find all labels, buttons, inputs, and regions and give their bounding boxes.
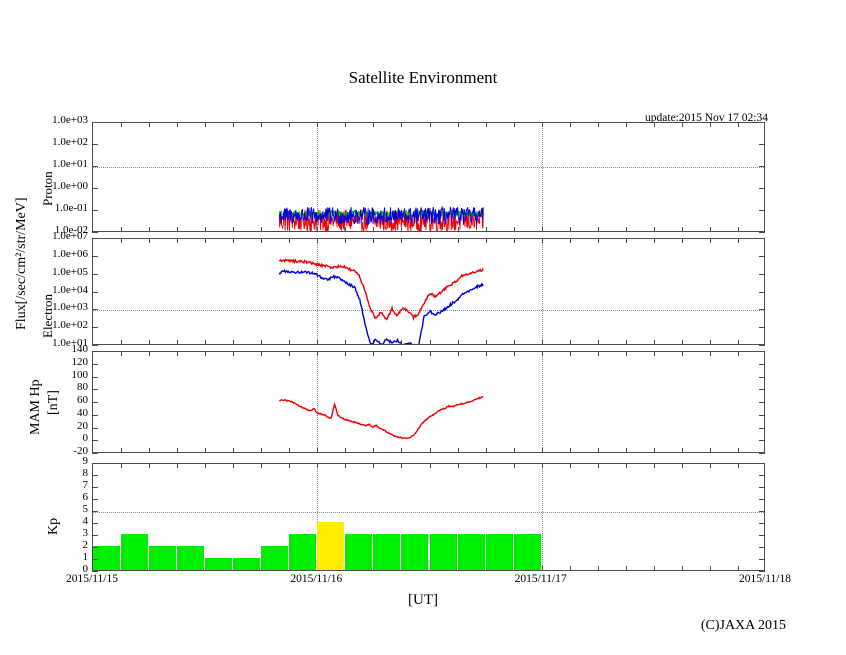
y-tick-mark-right (759, 122, 765, 123)
y-tick-mark (92, 210, 98, 211)
electron-flux-panel (92, 238, 765, 345)
x-minor-tick (598, 464, 599, 468)
y-tick-mark-right (759, 463, 765, 464)
y-tick-mark (92, 351, 98, 352)
x-axis-tick-labels: 2015/11/152015/11/162015/11/172015/11/18 (0, 573, 846, 591)
y-tick-mark (92, 274, 98, 275)
proton-flux-panel (92, 122, 765, 232)
y-tick-mark-right (759, 453, 765, 454)
y-tick-label: 1.0e+07 (0, 230, 88, 242)
mam-series-hp (279, 397, 483, 439)
x-minor-tick (233, 464, 234, 468)
y-tick-mark-right (759, 487, 765, 488)
x-minor-tick (149, 464, 150, 468)
y-tick-mark (92, 232, 98, 233)
electron-series-E-low (279, 270, 483, 345)
y-tick-mark-right (759, 440, 765, 441)
y-tick-mark-right (759, 499, 765, 500)
y-tick-mark (92, 188, 98, 189)
y-tick-mark-right (759, 571, 765, 572)
y-tick-mark-right (759, 389, 765, 390)
x-minor-tick (570, 464, 571, 468)
kp-bar (486, 534, 513, 570)
y-tick-mark (92, 547, 98, 548)
y-tick-mark-right (759, 547, 765, 548)
kp-bar (93, 546, 120, 570)
y-tick-mark (92, 487, 98, 488)
x-minor-tick (654, 566, 655, 570)
y-tick-mark (92, 511, 98, 512)
y-tick-mark-right (759, 535, 765, 536)
y-tick-mark-right (759, 232, 765, 233)
proton-trace-group (93, 123, 765, 232)
y-tick-label: 4 (0, 515, 88, 527)
y-tick-mark-right (759, 511, 765, 512)
kp-bar (205, 558, 232, 570)
x-minor-tick (654, 464, 655, 468)
kp-bar (177, 546, 204, 570)
y-tick-mark-right (759, 309, 765, 310)
x-minor-tick (626, 464, 627, 468)
y-tick-mark-right (759, 256, 765, 257)
y-tick-mark (92, 428, 98, 429)
y-tick-label: 1.0e+02 (0, 319, 88, 331)
y-tick-mark (92, 402, 98, 403)
x-minor-tick (317, 464, 318, 468)
y-tick-label: 100 (0, 369, 88, 381)
kp-bar (289, 534, 316, 570)
y-tick-mark-right (759, 274, 765, 275)
x-tick-label: 2015/11/16 (290, 573, 342, 585)
y-tick-mark (92, 440, 98, 441)
y-tick-label: 1 (0, 551, 88, 563)
horizontal-gridline (93, 512, 764, 513)
y-tick-mark-right (759, 475, 765, 476)
electron-plot-area (93, 239, 764, 344)
kp-bar (514, 534, 541, 570)
mam-plot-area (93, 352, 764, 452)
x-minor-tick (682, 464, 683, 468)
y-tick-mark (92, 559, 98, 560)
x-minor-tick (738, 566, 739, 570)
y-tick-label: 5 (0, 503, 88, 515)
x-minor-tick (401, 464, 402, 468)
y-tick-label: 8 (0, 467, 88, 479)
electron-series-E-high (279, 260, 483, 320)
y-tick-mark-right (759, 292, 765, 293)
proton-plot-area (93, 123, 764, 231)
x-minor-tick (514, 464, 515, 468)
y-tick-label: 1.0e+02 (0, 136, 88, 148)
y-tick-label: 40 (0, 407, 88, 419)
x-tick-label: 2015/11/17 (515, 573, 567, 585)
x-axis-label: [UT] (0, 592, 846, 609)
y-tick-mark-right (759, 210, 765, 211)
kp-bar (401, 534, 428, 570)
y-tick-mark (92, 535, 98, 536)
y-tick-mark-right (759, 238, 765, 239)
electron-trace-group (93, 239, 765, 345)
y-tick-mark (92, 415, 98, 416)
x-minor-tick (458, 464, 459, 468)
x-minor-tick (598, 566, 599, 570)
y-tick-mark (92, 475, 98, 476)
y-tick-mark-right (759, 428, 765, 429)
x-minor-tick (710, 566, 711, 570)
y-tick-label: 20 (0, 420, 88, 432)
kp-bar (345, 534, 372, 570)
y-tick-mark-right (759, 377, 765, 378)
x-minor-tick (121, 464, 122, 468)
x-minor-tick (570, 566, 571, 570)
x-minor-tick (626, 566, 627, 570)
kp-plot-area (93, 464, 764, 570)
y-tick-mark (92, 238, 98, 239)
y-tick-label: 1.0e+05 (0, 266, 88, 278)
kp-bar (233, 558, 260, 570)
y-tick-label: 7 (0, 479, 88, 491)
y-tick-label: 9 (0, 455, 88, 467)
y-tick-mark (92, 499, 98, 500)
kp-bar (373, 534, 400, 570)
y-tick-mark (92, 327, 98, 328)
y-tick-mark (92, 523, 98, 524)
x-minor-tick (430, 464, 431, 468)
y-tick-mark (92, 122, 98, 123)
x-minor-tick (289, 464, 290, 468)
x-minor-tick (542, 464, 543, 468)
y-tick-mark-right (759, 559, 765, 560)
y-tick-mark-right (759, 345, 765, 346)
y-tick-label: 6 (0, 491, 88, 503)
y-tick-mark (92, 364, 98, 365)
y-tick-mark-right (759, 523, 765, 524)
y-tick-mark (92, 309, 98, 310)
kp-bar (261, 546, 288, 570)
y-tick-mark-right (759, 351, 765, 352)
x-minor-tick (205, 464, 206, 468)
x-minor-tick (261, 464, 262, 468)
y-tick-mark (92, 453, 98, 454)
y-tick-label: 80 (0, 381, 88, 393)
kp-bar (430, 534, 457, 570)
y-tick-mark-right (759, 402, 765, 403)
y-tick-label: 1.0e+03 (0, 301, 88, 313)
x-minor-tick (710, 464, 711, 468)
y-tick-label: 2 (0, 539, 88, 551)
copyright-notice: (C)JAXA 2015 (701, 618, 786, 634)
mam-trace-group (93, 352, 765, 453)
y-tick-mark-right (759, 188, 765, 189)
y-tick-label: 60 (0, 394, 88, 406)
page-title: Satellite Environment (0, 68, 846, 88)
y-tick-label: 1.0e+01 (0, 158, 88, 170)
y-tick-mark (92, 292, 98, 293)
y-tick-label: 140 (0, 343, 88, 355)
y-tick-mark (92, 166, 98, 167)
x-minor-tick (345, 464, 346, 468)
x-minor-tick (738, 464, 739, 468)
x-minor-tick (682, 566, 683, 570)
y-tick-mark-right (759, 327, 765, 328)
y-tick-label: 0 (0, 432, 88, 444)
y-tick-mark (92, 389, 98, 390)
x-tick-label: 2015/11/18 (739, 573, 791, 585)
y-tick-label: 1.0e+04 (0, 284, 88, 296)
kp-bar (458, 534, 485, 570)
x-minor-tick (486, 464, 487, 468)
y-tick-mark-right (759, 415, 765, 416)
y-tick-mark (92, 256, 98, 257)
y-tick-label: 1.0e-01 (0, 202, 88, 214)
y-tick-mark-right (759, 166, 765, 167)
y-tick-label: 1.0e+06 (0, 248, 88, 260)
kp-bar (317, 522, 344, 570)
y-tick-mark (92, 345, 98, 346)
x-tick-label: 2015/11/15 (66, 573, 118, 585)
vertical-gridline (542, 464, 543, 570)
y-tick-mark-right (759, 144, 765, 145)
y-tick-label: 3 (0, 527, 88, 539)
y-tick-label: 120 (0, 356, 88, 368)
x-minor-tick (373, 464, 374, 468)
kp-bar (149, 546, 176, 570)
y-tick-mark (92, 144, 98, 145)
x-minor-tick (542, 566, 543, 570)
mam-hp-panel (92, 351, 765, 453)
y-tick-mark (92, 377, 98, 378)
x-minor-tick (177, 464, 178, 468)
y-tick-label: 1.0e+00 (0, 180, 88, 192)
y-tick-mark (92, 463, 98, 464)
y-tick-mark (92, 571, 98, 572)
y-tick-label: 1.0e+03 (0, 114, 88, 126)
kp-index-panel (92, 463, 765, 571)
y-tick-mark-right (759, 364, 765, 365)
kp-bar (121, 534, 148, 570)
